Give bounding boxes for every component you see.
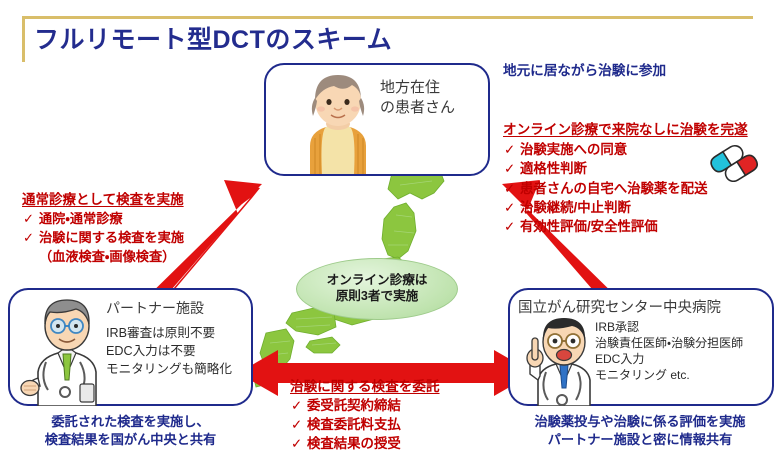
caption-participate-locally: 地元に居ながら治験に参加 xyxy=(503,62,666,80)
ncch-caption: 治験薬投与や治験に係る評価を実施 パートナー施設と密に情報共有 xyxy=(504,413,776,448)
partner-line: IRB審査は原則不要 xyxy=(106,325,232,343)
partner-box-title: パートナー施設 xyxy=(106,298,204,318)
ncch-box-title: 国立がん研究センター中央病院 xyxy=(518,296,721,317)
list-item: （血液検査・画像検査） xyxy=(22,248,184,267)
partner-line: モニタリングも簡略化 xyxy=(106,361,232,379)
list-item: 治験に関する検査を実施 xyxy=(22,229,184,248)
list-item: 検査結果の授受 xyxy=(290,435,440,454)
center-note-line1: オンライン診療は xyxy=(327,273,428,289)
bottom-annotation-list: 委受託契約締結 検査委託料支払 検査結果の授受 xyxy=(290,397,440,453)
partner-line: EDC入力は不要 xyxy=(106,343,232,361)
patient-label-line2: の患者さん xyxy=(380,99,455,116)
page-title: フルリモート型DCTのスキーム xyxy=(34,20,392,56)
ncch-caption-line1: 治験薬投与や治験に係る評価を実施 xyxy=(535,414,746,429)
young-doctor-pointing-icon xyxy=(514,318,600,406)
slide-canvas: フルリモート型DCTのスキーム xyxy=(0,0,780,457)
ncch-line: EDC入力 xyxy=(595,352,743,368)
ncch-box-lines: IRB承認 治験責任医師・治験分担医師 EDC入力 モニタリング etc. xyxy=(595,320,743,384)
partner-caption-line1: 委託された検査を実施し、 xyxy=(51,414,209,429)
capsule-pills-icon xyxy=(706,142,766,182)
list-item: 委受託契約締結 xyxy=(290,397,440,416)
right-annotation-heading: オンライン診療で来院なしに治験を完遂 xyxy=(503,118,748,138)
ncch-line: IRB承認 xyxy=(595,320,743,336)
patient-label-line1: 地方在住 xyxy=(380,79,440,96)
ncch-caption-line2: パートナー施設と密に情報共有 xyxy=(548,432,733,447)
partner-box-lines: IRB審査は原則不要 EDC入力は不要 モニタリングも簡略化 xyxy=(106,325,232,379)
partner-caption-line2: 検査結果を国がん中央と共有 xyxy=(45,432,216,447)
patient-box-label: 地方在住 の患者さん xyxy=(380,78,455,119)
left-annotation-block: 通常診療として検査を実施 通院・通常診療 治験に関する検査を実施 （血液検査・画… xyxy=(22,188,184,267)
list-item: 検査委託料支払 xyxy=(290,416,440,435)
center-note-line2: 原則3者で実施 xyxy=(336,289,419,305)
ncch-line: モニタリング etc. xyxy=(595,368,743,384)
senior-doctor-icon xyxy=(18,296,110,406)
left-annotation-heading: 通常診療として検査を実施 xyxy=(22,188,184,208)
ncch-line: 治験責任医師・治験分担医師 xyxy=(595,336,743,352)
center-note-ellipse: オンライン診療は 原則3者で実施 xyxy=(296,258,458,320)
bottom-annotation-heading: 治験に関する検査を委託 xyxy=(290,375,440,395)
partner-caption: 委託された検査を実施し、 検査結果を国がん中央と共有 xyxy=(8,413,253,448)
elderly-patient-icon xyxy=(296,70,380,174)
list-item: 治験継続/中止判断 xyxy=(503,198,748,217)
list-item: 通院・通常診療 xyxy=(22,210,184,229)
list-item: 有効性評価/安全性評価 xyxy=(503,217,748,236)
left-annotation-list: 通院・通常診療 治験に関する検査を実施 （血液検査・画像検査） xyxy=(22,210,184,267)
bottom-annotation-block: 治験に関する検査を委託 委受託契約締結 検査委託料支払 検査結果の授受 xyxy=(290,375,440,453)
